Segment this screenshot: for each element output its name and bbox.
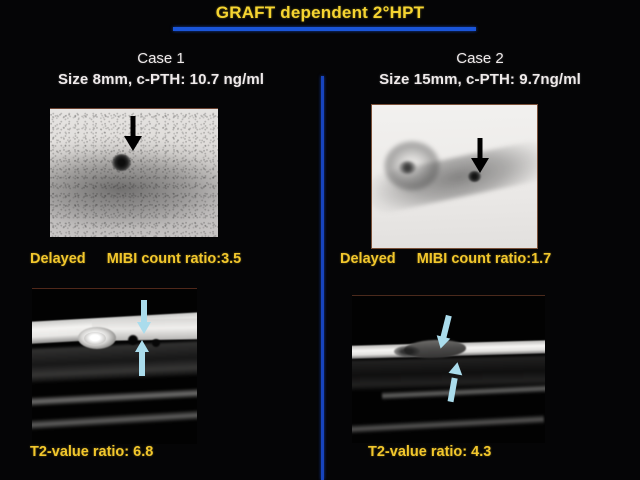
arrow-head [124, 136, 142, 151]
arrow-head [137, 322, 151, 334]
case-2-details: Size 15mm, c-PTH: 9.7ng/ml [326, 69, 634, 90]
mibi-ratio-label-case-1: MIBI count ratio:3.5 [107, 251, 242, 267]
scintigram-hotspot-case-1 [112, 154, 131, 171]
arrow-shaft [478, 138, 483, 160]
black-arrow-icon-case-2 [470, 138, 490, 178]
arrow-shaft [139, 352, 145, 376]
arrow-head [135, 340, 149, 352]
arrow-shaft [141, 300, 147, 324]
t2-mri-case-1 [32, 288, 197, 444]
case-1-label: Case 1 [8, 48, 314, 69]
blue-arrow-down-icon-case-1 [136, 300, 152, 336]
mibi-phase-label-case-1: Delayed [30, 251, 86, 267]
mri-muscle-layer [32, 341, 197, 383]
page-title: GRAFT dependent 2°HPT [0, 2, 640, 24]
scintigram-stump-core [399, 161, 416, 174]
mibi-caption-case-2: Delayed MIBI count ratio:1.7 [340, 251, 551, 267]
mibi-phase-label-case-2: Delayed [340, 251, 396, 267]
arrow-shaft [131, 116, 136, 138]
title-underline [173, 27, 476, 31]
mri-lesion-bright-core-case-1 [84, 332, 106, 345]
mibi-ratio-label-case-2: MIBI count ratio:1.7 [417, 251, 552, 267]
arrow-head [471, 158, 489, 173]
mri-vessel-void-b [152, 339, 160, 347]
arrow-head [448, 361, 464, 375]
arrow-shaft [448, 378, 458, 403]
title-block: GRAFT dependent 2°HPT [0, 2, 640, 24]
case-2-label: Case 2 [326, 48, 634, 69]
t2-caption-case-2: T2-value ratio: 4.3 [368, 444, 491, 460]
column-divider [321, 76, 324, 480]
mibi-caption-case-1: Delayed MIBI count ratio:3.5 [30, 251, 241, 267]
arrow-head [434, 335, 450, 350]
mri-fascia-stripe-low [352, 415, 544, 434]
case-1-details: Size 8mm, c-PTH: 10.7 ng/ml [8, 69, 314, 90]
case-1-header: Case 1 Size 8mm, c-PTH: 10.7 ng/ml [8, 48, 314, 90]
case-2-header: Case 2 Size 15mm, c-PTH: 9.7ng/ml [326, 48, 634, 90]
t2-caption-case-1: T2-value ratio: 6.8 [30, 444, 153, 460]
mri-lesion-edge-case-2 [394, 346, 420, 357]
mibi-scintigram-case-2 [371, 104, 538, 249]
blue-arrow-up-icon-case-1 [134, 340, 150, 376]
mri-fascia-stripe-mid [32, 388, 197, 406]
presentation-slide: GRAFT dependent 2°HPT Case 1 Size 8mm, c… [0, 0, 640, 480]
mri-fascia-stripe-low [32, 410, 197, 431]
black-arrow-icon-case-1 [124, 116, 142, 154]
